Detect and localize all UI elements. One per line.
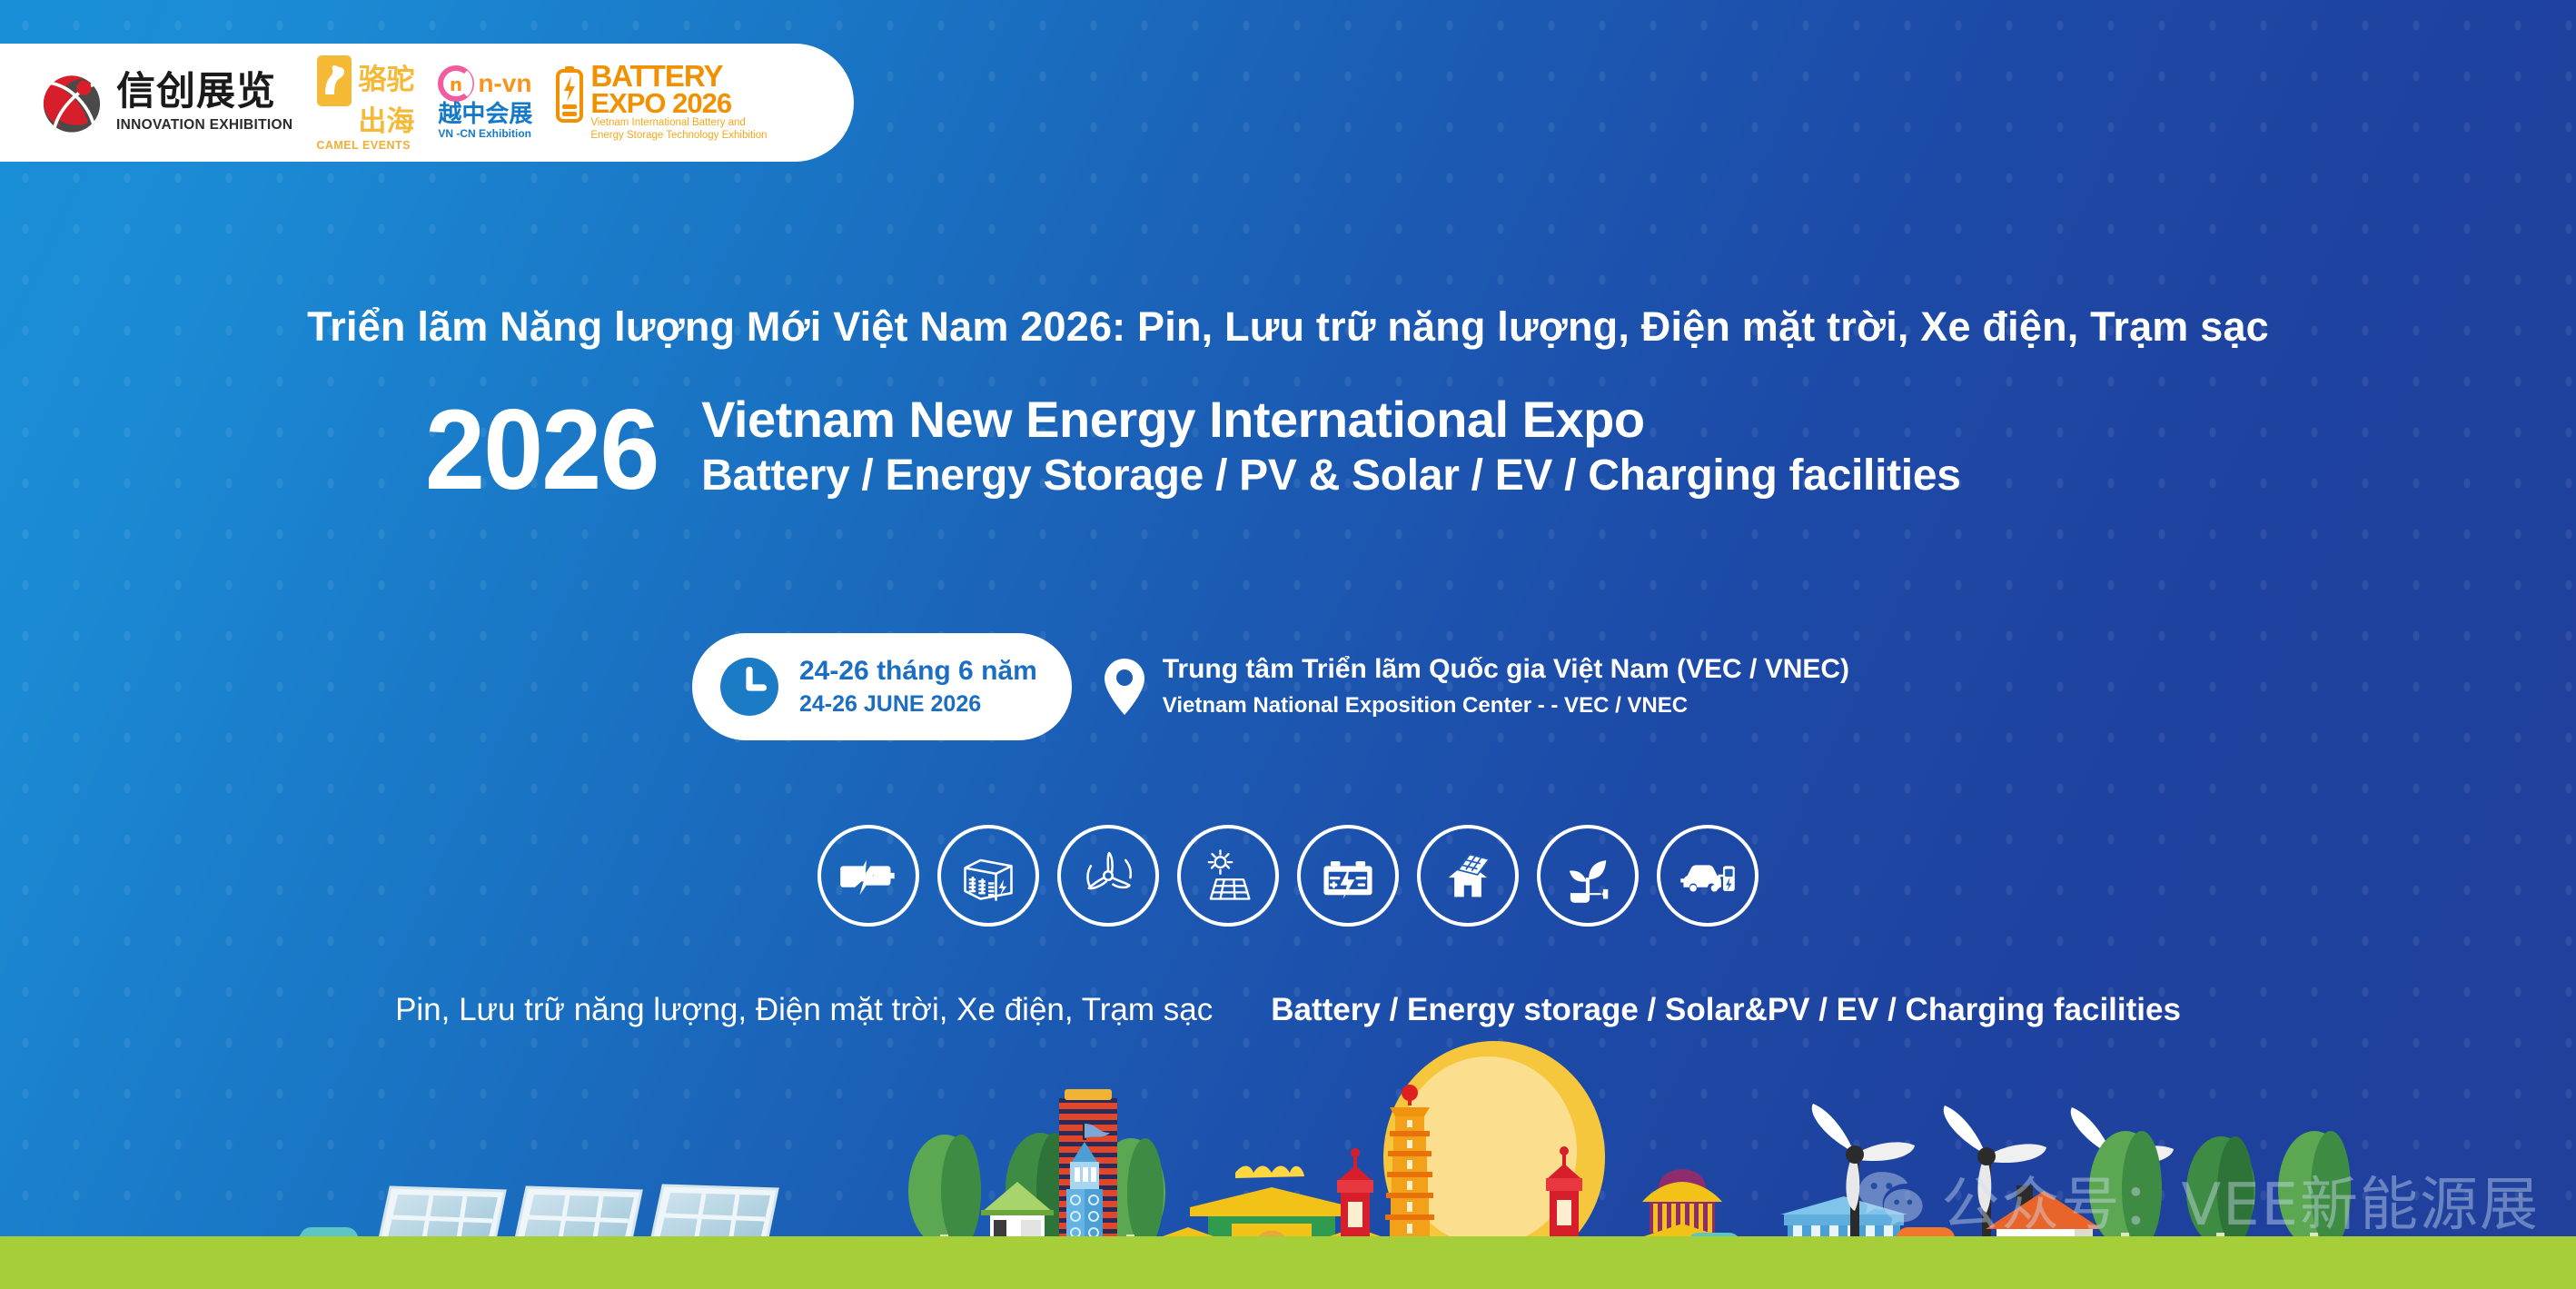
logo-battery-line1: BATTERY	[590, 63, 767, 90]
title-block: 2026 Vietnam New Energy International Ex…	[425, 386, 1961, 507]
caption-english: Battery / Energy storage / Solar&PV / EV…	[1271, 992, 2181, 1028]
globe-swoosh-icon	[38, 69, 105, 136]
green-plug-plant-icon[interactable]	[1537, 825, 1639, 927]
title-english-line2: Battery / Energy Storage / PV & Solar / …	[701, 451, 1961, 501]
headline-vietnamese: Triển lãm Năng lượng Mới Việt Nam 2026: …	[0, 303, 2576, 351]
logo-nvn-exhibition[interactable]: n n-vn 越中会展 VN -CN Exhibition	[438, 65, 532, 140]
watermark: 公众号：VEE新能源展	[1856, 1158, 2540, 1242]
date-vietnamese: 24-26 tháng 6 năm	[799, 656, 1037, 688]
logo-innovation-cn: 信创展览	[116, 73, 292, 112]
logo-camel-events[interactable]: 骆驼 出海 CAMEL EVENTS	[316, 55, 414, 152]
caption-vietnamese: Pin, Lưu trữ năng lượng, Điện mặt trời, …	[395, 992, 1213, 1028]
event-banner: 信创展览 INNOVATION EXHIBITION 骆驼 出海 CAMEL E…	[0, 0, 2576, 1289]
wind-turbine-icon[interactable]	[1057, 825, 1159, 927]
car-battery-icon[interactable]	[1297, 825, 1399, 927]
wechat-icon	[1856, 1165, 1925, 1234]
ev-charging-icon[interactable]	[1657, 825, 1759, 927]
venue-english: Vietnam National Exposition Center - - V…	[1163, 691, 1849, 719]
nvn-c-ring-icon: n	[438, 65, 474, 102]
year-2026: 2026	[425, 393, 659, 507]
logo-battery-sub1: Vietnam International Battery and	[590, 116, 767, 129]
title-english-line1: Vietnam New Energy International Expo	[701, 392, 1961, 449]
solar-house-icon[interactable]	[1417, 825, 1519, 927]
category-icon-row	[0, 825, 2576, 927]
battery-icon	[556, 66, 583, 123]
venue-block: Trung tâm Triển lãm Quốc gia Việt Nam (V…	[1105, 653, 1849, 719]
svg-text:n: n	[450, 74, 462, 95]
date-pill[interactable]: 24-26 tháng 6 năm 24-26 JUNE 2026	[692, 633, 1072, 740]
ground-strip	[0, 1236, 2576, 1289]
logo-nvn-cn: 越中会展	[438, 103, 532, 126]
logo-battery-expo[interactable]: BATTERY EXPO 2026 Vietnam International …	[556, 63, 767, 143]
battery-charge-icon[interactable]	[817, 825, 919, 927]
logo-nvn-en: VN -CN Exhibition	[438, 127, 531, 140]
map-pin-icon	[1105, 659, 1144, 715]
date-english: 24-26 JUNE 2026	[799, 690, 1037, 718]
camel-icon	[316, 55, 352, 107]
logo-innovation-exhibition[interactable]: 信创展览 INNOVATION EXHIBITION	[38, 69, 292, 136]
info-row: 24-26 tháng 6 năm 24-26 JUNE 2026 Trung …	[692, 633, 1849, 740]
logo-camel-cn-bottom: 出海	[358, 108, 414, 136]
logo-camel-en: CAMEL EVENTS	[316, 139, 411, 152]
venue-vietnamese: Trung tâm Triển lãm Quốc gia Việt Nam (V…	[1163, 653, 1849, 686]
logo-battery-line2: EXPO 2026	[590, 91, 767, 117]
logo-camel-cn-top: 骆驼	[358, 66, 414, 94]
energy-storage-cabinet-icon[interactable]	[937, 825, 1039, 927]
clock-icon	[719, 657, 779, 717]
logo-battery-sub2: Energy Storage Technology Exhibition	[590, 129, 767, 142]
solar-panel-sun-icon[interactable]	[1177, 825, 1279, 927]
logo-innovation-en: INNOVATION EXHIBITION	[116, 117, 292, 134]
watermark-text: 公众号：VEE新能源展	[1941, 1158, 2540, 1242]
logo-nvn-wordmark: n-vn	[478, 71, 531, 96]
caption-row: Pin, Lưu trữ năng lượng, Điện mặt trời, …	[0, 992, 2576, 1028]
logo-bar: 信创展览 INNOVATION EXHIBITION 骆驼 出海 CAMEL E…	[0, 44, 854, 162]
